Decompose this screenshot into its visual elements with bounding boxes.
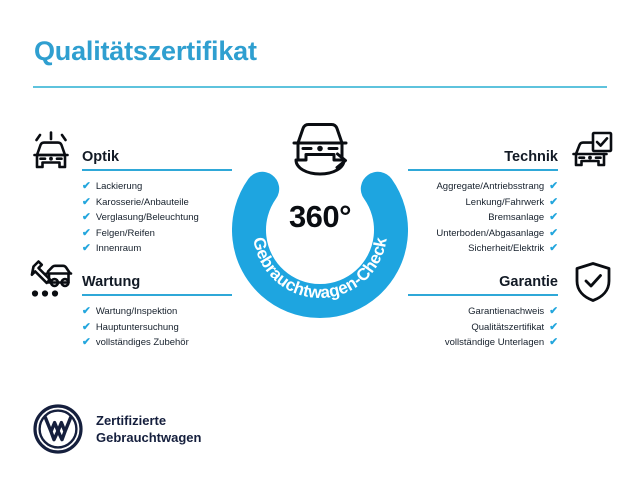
footer-brand-logo: ZertifizierteGebrauchtwagen [33,404,201,454]
section-wartung-divider [82,294,232,296]
car-checkbox-icon [568,130,614,174]
vw-roundel-logo [33,404,83,454]
list-item-label: Innenraum [96,243,141,254]
list-item-label: Lackierung [96,181,142,192]
quality-certificate-page: Qualitätszertifikat Optik ✔Lackie [0,0,640,480]
section-technik-header: Technik [408,147,558,171]
section-optik-header: Optik [82,147,232,171]
section-garantie-divider [408,294,558,296]
car-rotate-360-icon [274,114,366,182]
section-garantie-title: Garantie [408,272,558,292]
page-title: Qualitätszertifikat [34,36,257,67]
section-technik-divider [408,169,558,171]
check-icon: ✔ [549,321,558,333]
list-item-label: Karosserie/Anbauteile [96,197,189,208]
section-garantie: Garantie Garantienachweis✔ Qualitätszert… [408,272,558,351]
list-item-label: Unterboden/Abgasanlage [436,228,544,239]
list-item: ✔Felgen/Reifen [82,226,232,242]
section-wartung-list: ✔Wartung/Inspektion ✔Hauptuntersuchung ✔… [82,304,232,351]
check-icon: ✔ [549,211,558,223]
brand-name: ZertifizierteGebrauchtwagen [96,412,201,446]
check-icon: ✔ [82,227,91,239]
list-item: Garantienachweis✔ [408,304,558,320]
list-item-label: Qualitätszertifikat [471,322,544,333]
section-optik-title: Optik [82,147,232,167]
list-item: ✔Hauptuntersuchung [82,320,232,336]
check-icon: ✔ [549,196,558,208]
shield-check-icon [573,261,613,303]
title-divider [33,86,607,88]
list-item-label: Lenkung/Fahrwerk [466,197,545,208]
section-garantie-header: Garantie [408,272,558,296]
section-technik: Technik Aggregate/Antriebsstrang✔ Lenkun… [408,147,558,257]
brand-line-1: Zertifizierte [96,413,166,428]
list-item-label: Felgen/Reifen [96,228,155,239]
wrench-car-service-icon [28,258,74,300]
list-item: Bremsanlage✔ [408,210,558,226]
section-technik-title: Technik [408,147,558,167]
section-wartung-title: Wartung [82,272,232,292]
list-item-label: Sicherheit/Elektrik [468,243,544,254]
list-item: Unterboden/Abgasanlage✔ [408,226,558,242]
list-item-label: Bremsanlage [488,212,544,223]
check-icon: ✔ [82,242,91,254]
section-wartung-header: Wartung [82,272,232,296]
section-wartung: Wartung ✔Wartung/Inspektion ✔Hauptunters… [82,272,232,351]
list-item-label: vollständige Unterlagen [445,337,544,348]
list-item: ✔vollständiges Zubehör [82,335,232,351]
list-item: Aggregate/Antriebsstrang✔ [408,179,558,195]
check-icon: ✔ [82,180,91,192]
list-item-label: Garantienachweis [468,306,544,317]
list-item: vollständige Unterlagen✔ [408,335,558,351]
check-icon: ✔ [549,305,558,317]
brand-line-2: Gebrauchtwagen [96,430,201,445]
section-optik: Optik ✔Lackierung ✔Karosserie/Anbauteile… [82,147,232,257]
list-item: ✔Lackierung [82,179,232,195]
check-icon: ✔ [549,180,558,192]
list-item: Qualitätszertifikat✔ [408,320,558,336]
check-icon: ✔ [82,196,91,208]
car-front-shine-icon [28,131,74,175]
list-item-label: Hauptuntersuchung [96,322,179,333]
list-item-label: Verglasung/Beleuchtung [96,212,199,223]
section-technik-list: Aggregate/Antriebsstrang✔ Lenkung/Fahrwe… [408,179,558,257]
check-icon: ✔ [549,336,558,348]
list-item-label: Wartung/Inspektion [96,306,178,317]
check-icon: ✔ [549,227,558,239]
list-item: ✔Innenraum [82,241,232,257]
list-item: ✔Verglasung/Beleuchtung [82,210,232,226]
section-garantie-list: Garantienachweis✔ Qualitätszertifikat✔ v… [408,304,558,351]
list-item: Sicherheit/Elektrik✔ [408,241,558,257]
list-item: ✔Karosserie/Anbauteile [82,195,232,211]
check-icon: ✔ [82,321,91,333]
section-optik-list: ✔Lackierung ✔Karosserie/Anbauteile ✔Verg… [82,179,232,257]
badge-degrees-label: 360° [232,199,408,235]
list-item: Lenkung/Fahrwerk✔ [408,195,558,211]
list-item-label: vollständiges Zubehör [96,337,189,348]
section-optik-divider [82,169,232,171]
list-item-label: Aggregate/Antriebsstrang [436,181,544,192]
check-icon: ✔ [82,336,91,348]
list-item: ✔Wartung/Inspektion [82,304,232,320]
check-icon: ✔ [549,242,558,254]
check-icon: ✔ [82,211,91,223]
check-icon: ✔ [82,305,91,317]
